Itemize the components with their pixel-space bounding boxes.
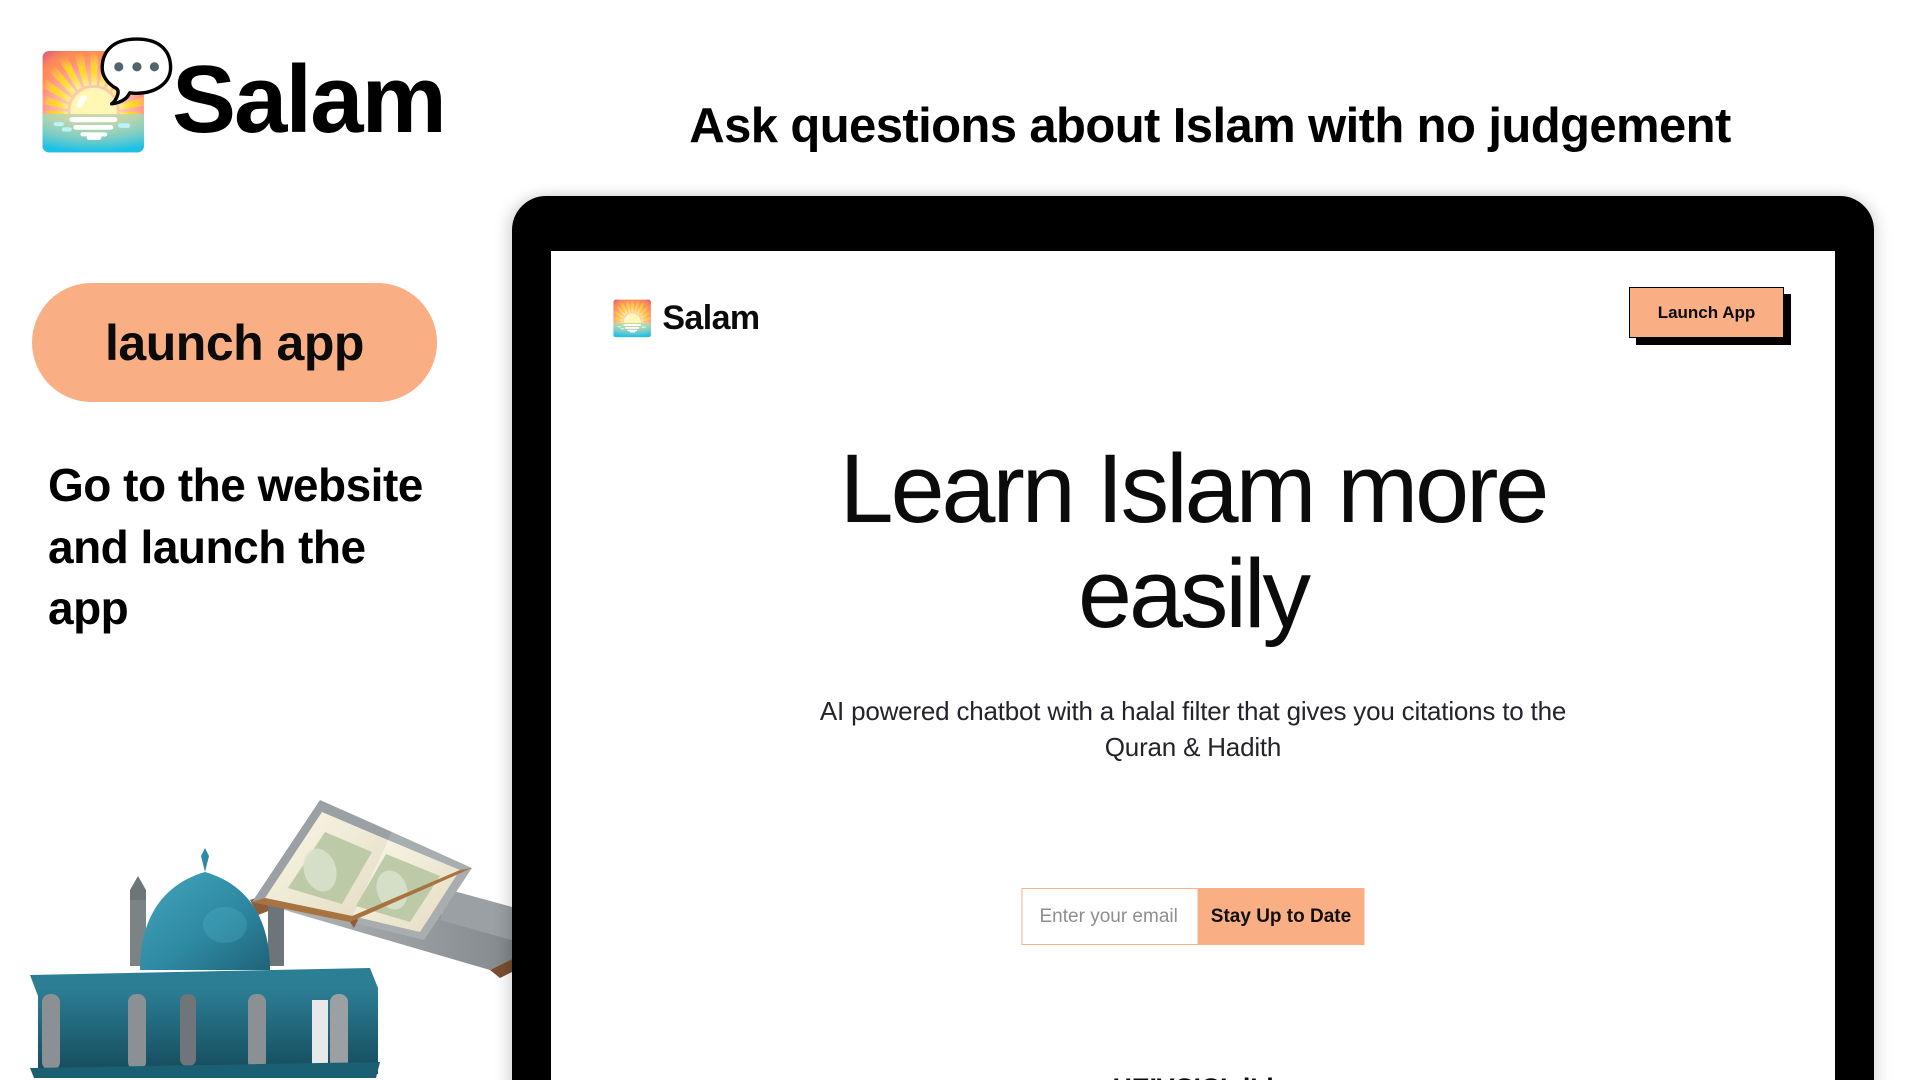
brand-lockup: 🌅 💬 Salam <box>36 48 445 152</box>
hero-title: Learn Islam more easily <box>763 437 1623 647</box>
email-input[interactable] <box>1022 888 1198 945</box>
hero-section: Learn Islam more easily AI powered chatb… <box>551 437 1835 766</box>
speech-bubble-icon: 💬 <box>98 40 175 102</box>
nav-launch-app-button[interactable]: Launch App <box>1629 287 1784 338</box>
site-navbar: 🌅 Salam Launch App <box>551 251 1835 383</box>
launch-app-button[interactable]: launch app <box>32 283 437 402</box>
stay-up-to-date-button[interactable]: Stay Up to Date <box>1198 888 1365 945</box>
site-logo[interactable]: 🌅 Salam <box>611 299 760 338</box>
brand-name: Salam <box>172 52 445 148</box>
cut-off-footer-text: HEIVCICL iLl <box>1113 1073 1274 1080</box>
slide-canvas: 🌅 💬 Salam launch app Go to the website a… <box>0 0 1920 1080</box>
instruction-text: Go to the website and launch the app <box>48 455 448 640</box>
launch-app-button-label: launch app <box>105 314 364 372</box>
brand-emoji-group: 🌅 💬 <box>36 48 164 152</box>
site-logo-label: Salam <box>662 299 759 338</box>
nav-launch-app-button-label: Launch App <box>1658 303 1756 323</box>
nav-launch-app-wrapper: Launch App <box>1629 287 1791 345</box>
device-frame: 🌅 Salam Launch App Learn Islam more easi… <box>512 196 1874 1080</box>
page-title: Ask questions about Islam with no judgem… <box>560 98 1860 154</box>
mosque-icon: 🌅 <box>611 302 653 336</box>
device-screen: 🌅 Salam Launch App Learn Islam more easi… <box>551 251 1835 1080</box>
hero-subtitle: AI powered chatbot with a halal filter t… <box>783 693 1603 767</box>
newsletter-signup-form: Stay Up to Date <box>1022 888 1365 945</box>
